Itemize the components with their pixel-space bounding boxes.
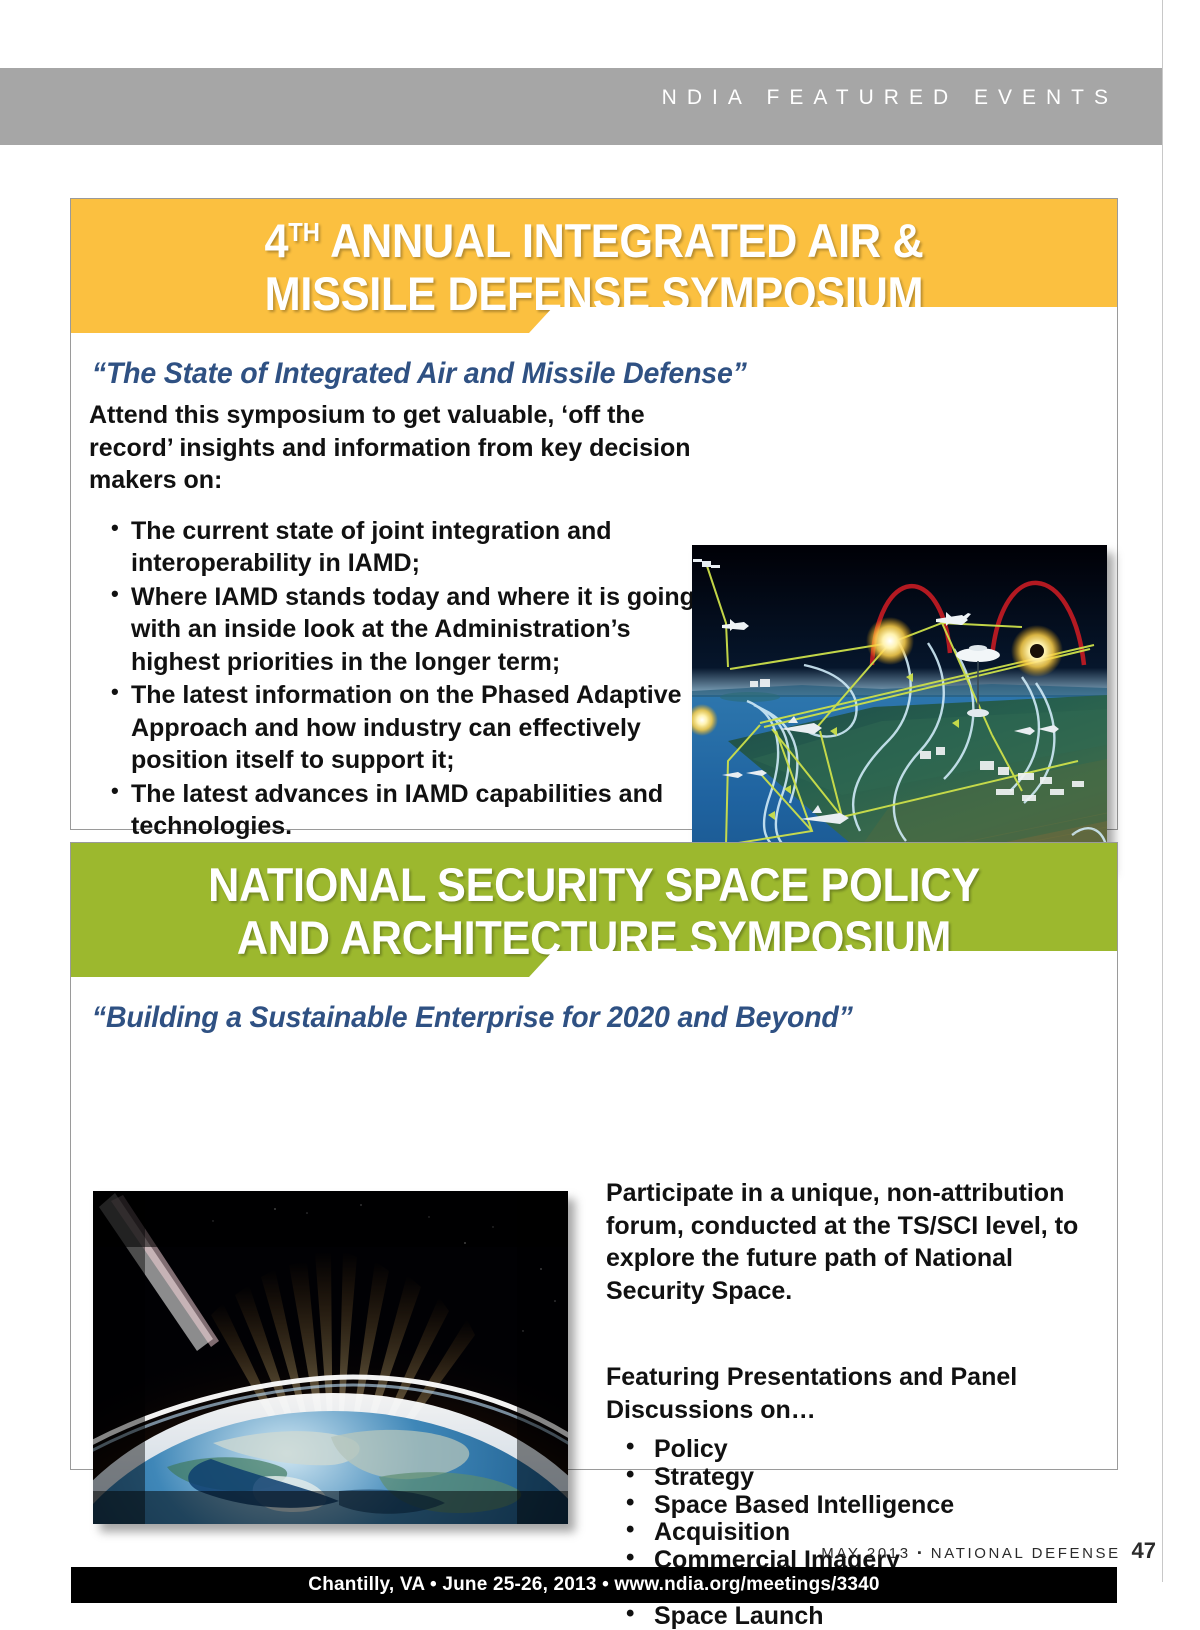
page-number: 47 <box>1132 1538 1156 1563</box>
list-item: Space Launch <box>622 1603 1096 1630</box>
footer-issue: MAY 2013 <box>821 1545 910 1562</box>
event-title-iamd: 4TH ANNUAL INTEGRATED AIR & MISSILE DEFE… <box>113 199 1075 320</box>
event-title-line1: 4TH ANNUAL INTEGRATED AIR & <box>264 214 923 267</box>
ordinal-number: 4 <box>264 214 288 267</box>
iamd-bullet-list: The current state of joint integration a… <box>89 515 705 843</box>
featured-events-label: NDIA FEATURED EVENTS <box>662 86 1118 110</box>
iamd-illustration <box>692 545 1107 868</box>
event-title-line2: MISSILE DEFENSE SYMPOSIUM <box>265 267 924 320</box>
space-featuring-label: Featuring Presentations and Panel Discus… <box>606 1361 1096 1426</box>
event-subtitle-space: “Building a Sustainable Enterprise for 2… <box>71 977 1065 1035</box>
iamd-battlespace-image <box>692 545 1107 868</box>
event-subtitle-iamd: “The State of Integrated Air and Missile… <box>71 333 1065 391</box>
list-item: Space Based Intelligence <box>622 1492 1096 1519</box>
space-info-bar: Chantilly, VA • June 25-26, 2013 • www.n… <box>71 1567 1117 1603</box>
list-item: The latest advances in IAMD capabilities… <box>111 778 705 843</box>
title-line1-rest: ANNUAL INTEGRATED AIR & <box>320 214 924 267</box>
list-item: The latest information on the Phased Ada… <box>111 679 705 777</box>
footer-publication: NATIONAL DEFENSE <box>931 1545 1121 1562</box>
earth-sunrise-illustration <box>93 1191 568 1524</box>
page-footer: MAY 2013 ▪ NATIONAL DEFENSE 47 <box>821 1538 1156 1564</box>
event-card-iamd: 4TH ANNUAL INTEGRATED AIR & MISSILE DEFE… <box>70 198 1118 830</box>
event-title-line2: AND ARCHITECTURE SYMPOSIUM <box>237 911 951 964</box>
ordinal-suffix: TH <box>288 219 320 247</box>
iamd-text-column: Attend this symposium to get valuable, ‘… <box>89 399 705 844</box>
featured-events-band: NDIA FEATURED EVENTS <box>0 68 1162 145</box>
earth-sunrise-image <box>93 1191 568 1524</box>
event-card-space: NATIONAL SECURITY SPACE POLICY AND ARCHI… <box>70 842 1118 1470</box>
event-banner-space: NATIONAL SECURITY SPACE POLICY AND ARCHI… <box>71 843 1117 977</box>
event-title-space: NATIONAL SECURITY SPACE POLICY AND ARCHI… <box>113 843 1075 964</box>
iamd-lead-paragraph: Attend this symposium to get valuable, ‘… <box>89 399 705 497</box>
list-item: Strategy <box>622 1464 1096 1491</box>
magazine-page: NDIA FEATURED EVENTS 4TH ANNUAL INTEGRAT… <box>0 0 1200 1582</box>
event-body-iamd: “The State of Integrated Air and Missile… <box>71 333 1117 391</box>
page-margin <box>1163 0 1200 1582</box>
event-body-space: “Building a Sustainable Enterprise for 2… <box>71 977 1117 1035</box>
list-item: Where IAMD stands today and where it is … <box>111 581 705 679</box>
list-item: The current state of joint integration a… <box>111 515 705 580</box>
event-banner-iamd: 4TH ANNUAL INTEGRATED AIR & MISSILE DEFE… <box>71 199 1117 333</box>
space-lead-paragraph: Participate in a unique, non-attribution… <box>606 1177 1096 1307</box>
event-title-line1: NATIONAL SECURITY SPACE POLICY <box>208 858 980 911</box>
footer-separator: ▪ <box>917 1547 924 1559</box>
space-info-text: Chantilly, VA • June 25-26, 2013 • www.n… <box>308 1574 879 1596</box>
list-item: Policy <box>622 1436 1096 1463</box>
